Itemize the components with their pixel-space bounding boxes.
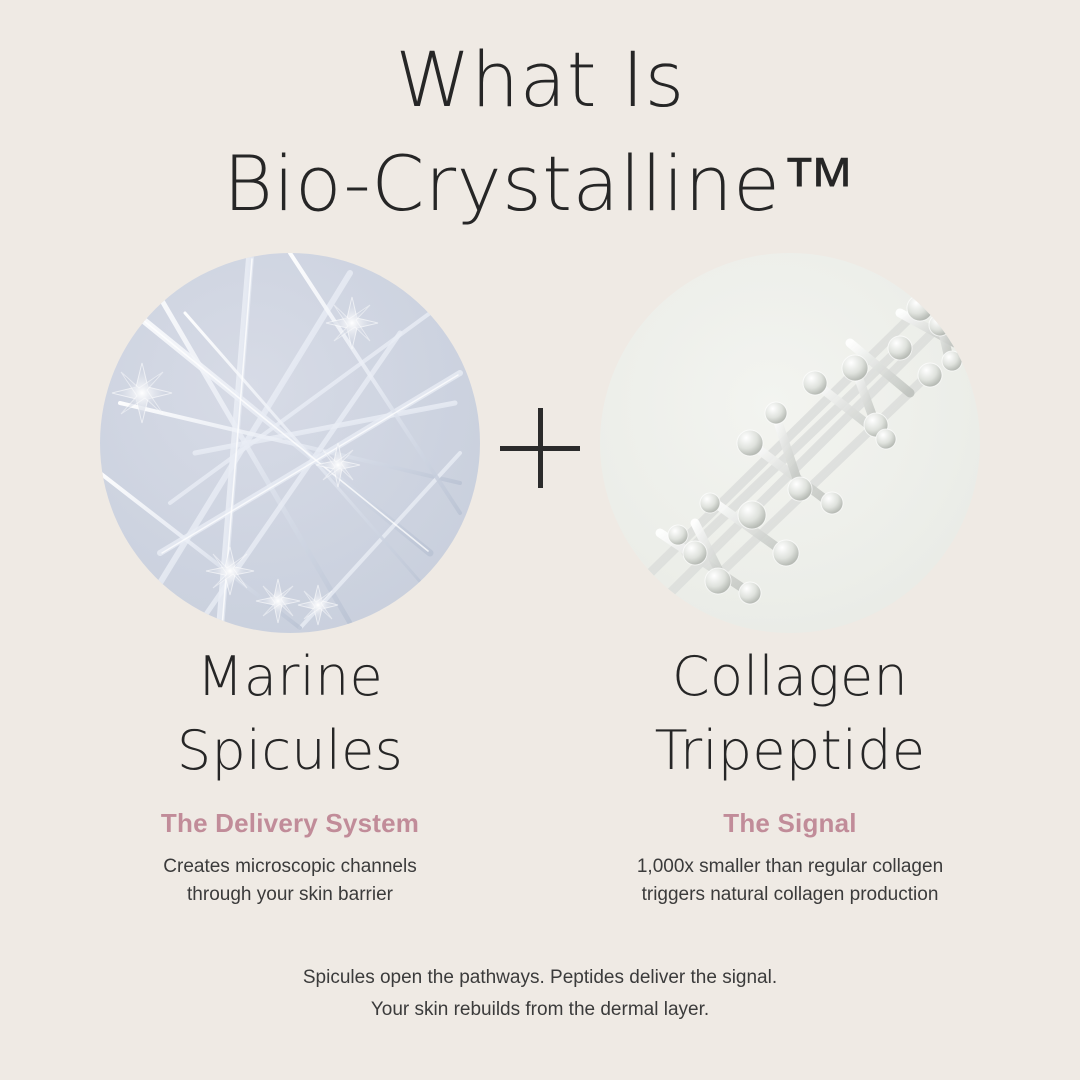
title-line-1: What Is xyxy=(0,28,1080,132)
footer-summary: Spicules open the pathways. Peptides del… xyxy=(0,962,1080,1026)
title-line-2: Bio-Crystalline™ xyxy=(0,132,1080,236)
page-title: What Is Bio-Crystalline™ xyxy=(0,28,1080,236)
column-description: 1,000x smaller than regular collagen tri… xyxy=(550,853,1030,909)
column-description-line-2: triggers natural collagen production xyxy=(550,881,1030,909)
column-description-line-2: through your skin barrier xyxy=(50,881,530,909)
spicules-illustration xyxy=(100,253,480,633)
column-marine-spicules: Marine Spicules The Delivery System Crea… xyxy=(50,640,530,909)
column-collagen-tripeptide: Collagen Tripeptide The Signal 1,000x sm… xyxy=(550,640,1030,909)
column-name-line-2: Tripeptide xyxy=(550,714,1030,788)
column-description: Creates microscopic channels through you… xyxy=(50,853,530,909)
column-role-label: The Signal xyxy=(550,808,1030,839)
column-name-line-1: Marine xyxy=(50,640,530,714)
column-description-line-1: Creates microscopic channels xyxy=(50,853,530,881)
molecule-illustration xyxy=(600,253,980,633)
footer-line-2: Your skin rebuilds from the dermal layer… xyxy=(0,994,1080,1026)
column-name-line-2: Spicules xyxy=(50,714,530,788)
column-name-line-1: Collagen xyxy=(550,640,1030,714)
plus-icon xyxy=(500,408,580,488)
infographic-page: What Is Bio-Crystalline™ xyxy=(0,0,1080,1080)
collagen-tripeptide-image xyxy=(600,253,980,633)
column-role-label: The Delivery System xyxy=(50,808,530,839)
ingredient-images-row xyxy=(0,253,1080,643)
marine-spicules-image xyxy=(100,253,480,633)
footer-line-1: Spicules open the pathways. Peptides del… xyxy=(0,962,1080,994)
column-description-line-1: 1,000x smaller than regular collagen xyxy=(550,853,1030,881)
